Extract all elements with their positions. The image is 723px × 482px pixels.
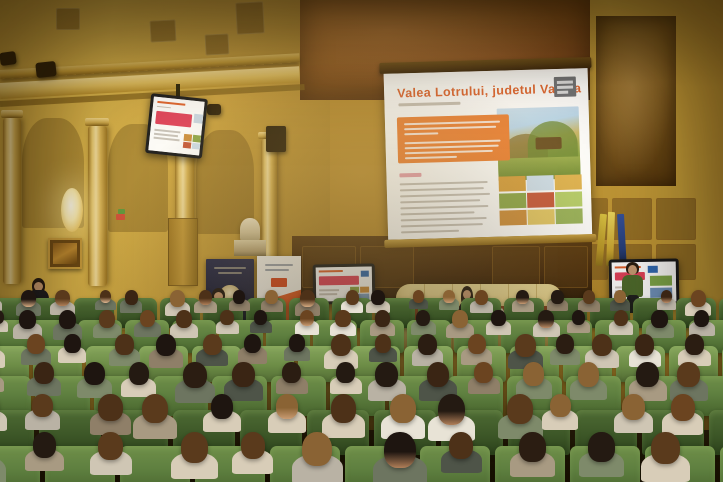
wall-tv-left — [145, 93, 208, 159]
audience-member-head — [99, 310, 115, 328]
audience-member-head — [556, 334, 574, 354]
exit-sign — [116, 214, 125, 220]
audience-member-head — [244, 334, 261, 353]
slide-photo-grid — [499, 174, 584, 226]
audience-member-head — [515, 334, 535, 357]
audience-member-head — [346, 290, 359, 305]
audience-member-head — [335, 310, 350, 327]
audience-member-head — [55, 290, 70, 306]
audience-member-head — [336, 362, 355, 383]
audience-member-head — [375, 310, 390, 327]
audience-member-head — [418, 334, 437, 355]
audience-member-head — [636, 362, 658, 387]
slide-callout-box — [397, 114, 510, 163]
audience-member-head — [220, 310, 234, 325]
audience-member-head — [33, 432, 56, 458]
audience-member-head — [661, 290, 673, 303]
ceiling-coffer — [149, 19, 176, 42]
audience-member-head — [375, 334, 392, 353]
audience-member-head — [276, 394, 298, 419]
audience-member-head — [232, 362, 255, 387]
audience-member-head — [491, 310, 505, 326]
ceiling-coffer — [204, 33, 229, 55]
audience-member-head — [413, 290, 424, 303]
audience-member-head — [115, 334, 134, 355]
audience-member-head — [523, 362, 544, 386]
projection-screen: Valea Lotrului, judetul Valcea — [375, 57, 596, 259]
audience-member-head — [592, 334, 612, 356]
screen-surface: Valea Lotrului, judetul Valcea — [384, 68, 593, 240]
column — [3, 118, 21, 284]
audience-member-head — [538, 310, 554, 328]
audience-member-head — [519, 432, 545, 462]
audience-member-head — [300, 310, 315, 326]
audience-member-head — [282, 362, 301, 383]
audience-area — [0, 296, 723, 482]
audience-member-head — [21, 290, 36, 307]
column-capital — [85, 118, 109, 126]
audience-member-head — [694, 310, 709, 327]
audience-member-head — [203, 334, 222, 355]
audience-member-head — [416, 310, 431, 326]
audience-member-head — [84, 362, 105, 385]
audience-member-head — [384, 432, 416, 468]
audience-member-head — [474, 362, 493, 383]
audience-member-head — [181, 432, 209, 463]
audience-member-head — [129, 362, 149, 385]
audience-member-head — [614, 290, 626, 303]
ceiling-coffer — [56, 8, 80, 30]
audience-member-head — [578, 362, 600, 387]
audience-member-head — [507, 394, 533, 424]
audience-member-head — [452, 310, 468, 328]
slide-subtitle — [398, 102, 460, 107]
audience-member-head — [671, 394, 695, 421]
auditorium-photo: Valea Lotrului, judetul Valcea — [0, 0, 723, 482]
audience-member-head — [254, 310, 267, 325]
framed-artwork — [48, 238, 82, 269]
audience-member-head — [651, 432, 680, 464]
bust-pedestal — [234, 240, 266, 256]
audience-member-head — [211, 394, 233, 419]
audience-member-head — [331, 394, 357, 423]
audience-member-head — [371, 290, 385, 305]
audience-member-head — [438, 394, 465, 425]
presentation-slide: Valea Lotrului, judetul Valcea — [384, 68, 593, 240]
audience-member-head — [199, 290, 212, 305]
audience-member-head — [685, 334, 704, 355]
column-capital — [1, 110, 23, 118]
audience-member-head — [140, 310, 156, 327]
audience-member-head — [125, 290, 138, 305]
audience-member-head — [170, 290, 185, 307]
audience-member-head — [59, 310, 76, 329]
audience-member-head — [677, 362, 699, 387]
wall-speaker — [266, 126, 286, 152]
audience-member-head — [468, 334, 486, 354]
ceiling-speaker — [0, 51, 17, 66]
audience-member-head — [614, 310, 628, 326]
wall-mural-right — [596, 16, 676, 186]
wall-sconce-light — [61, 188, 83, 232]
audience-member-head — [651, 310, 667, 328]
audience-member-head — [289, 334, 305, 352]
audience-member-head — [142, 394, 168, 423]
audience-member-head — [156, 334, 176, 356]
audience-member-head — [98, 394, 122, 421]
audience-member-head — [100, 290, 112, 303]
audience-member-head — [331, 334, 351, 356]
audience-member-head — [19, 310, 36, 329]
audience-member-head — [300, 290, 315, 307]
audience-member-head — [622, 394, 645, 420]
audience-member-head — [176, 310, 192, 328]
audience-member-head — [265, 290, 278, 304]
audience-member-head — [449, 432, 473, 459]
audience-member-head — [516, 290, 529, 304]
audience-member-head — [302, 432, 332, 466]
audience-member-head — [691, 290, 706, 307]
audience-member-head — [183, 362, 207, 388]
ceiling-speaker — [35, 61, 56, 78]
audience-member-head — [572, 310, 585, 325]
audience-member-head — [233, 290, 245, 304]
audience-member-head — [241, 432, 265, 459]
ceiling-coffer — [235, 1, 265, 34]
audience-member-head — [34, 362, 54, 384]
ceiling-speaker — [207, 104, 221, 115]
audience-member-head — [390, 394, 416, 423]
audience-member-head — [427, 362, 450, 387]
audience-member-head — [635, 334, 654, 356]
audience-member-head — [64, 334, 81, 353]
audience-member-head — [588, 432, 614, 462]
audience-member-head — [550, 394, 571, 417]
column — [88, 126, 107, 286]
slide-logo — [554, 76, 577, 97]
bust-statue — [240, 218, 260, 242]
audience-member-head — [551, 290, 563, 304]
audience-member-head — [32, 394, 53, 417]
side-door — [168, 218, 198, 286]
audience-member-head — [98, 432, 123, 460]
audience-member-head — [475, 290, 488, 305]
slide-section-heading — [399, 173, 421, 178]
audience-member-head — [27, 334, 45, 354]
audience-member-head — [375, 362, 397, 387]
audience-member-head — [443, 290, 455, 303]
